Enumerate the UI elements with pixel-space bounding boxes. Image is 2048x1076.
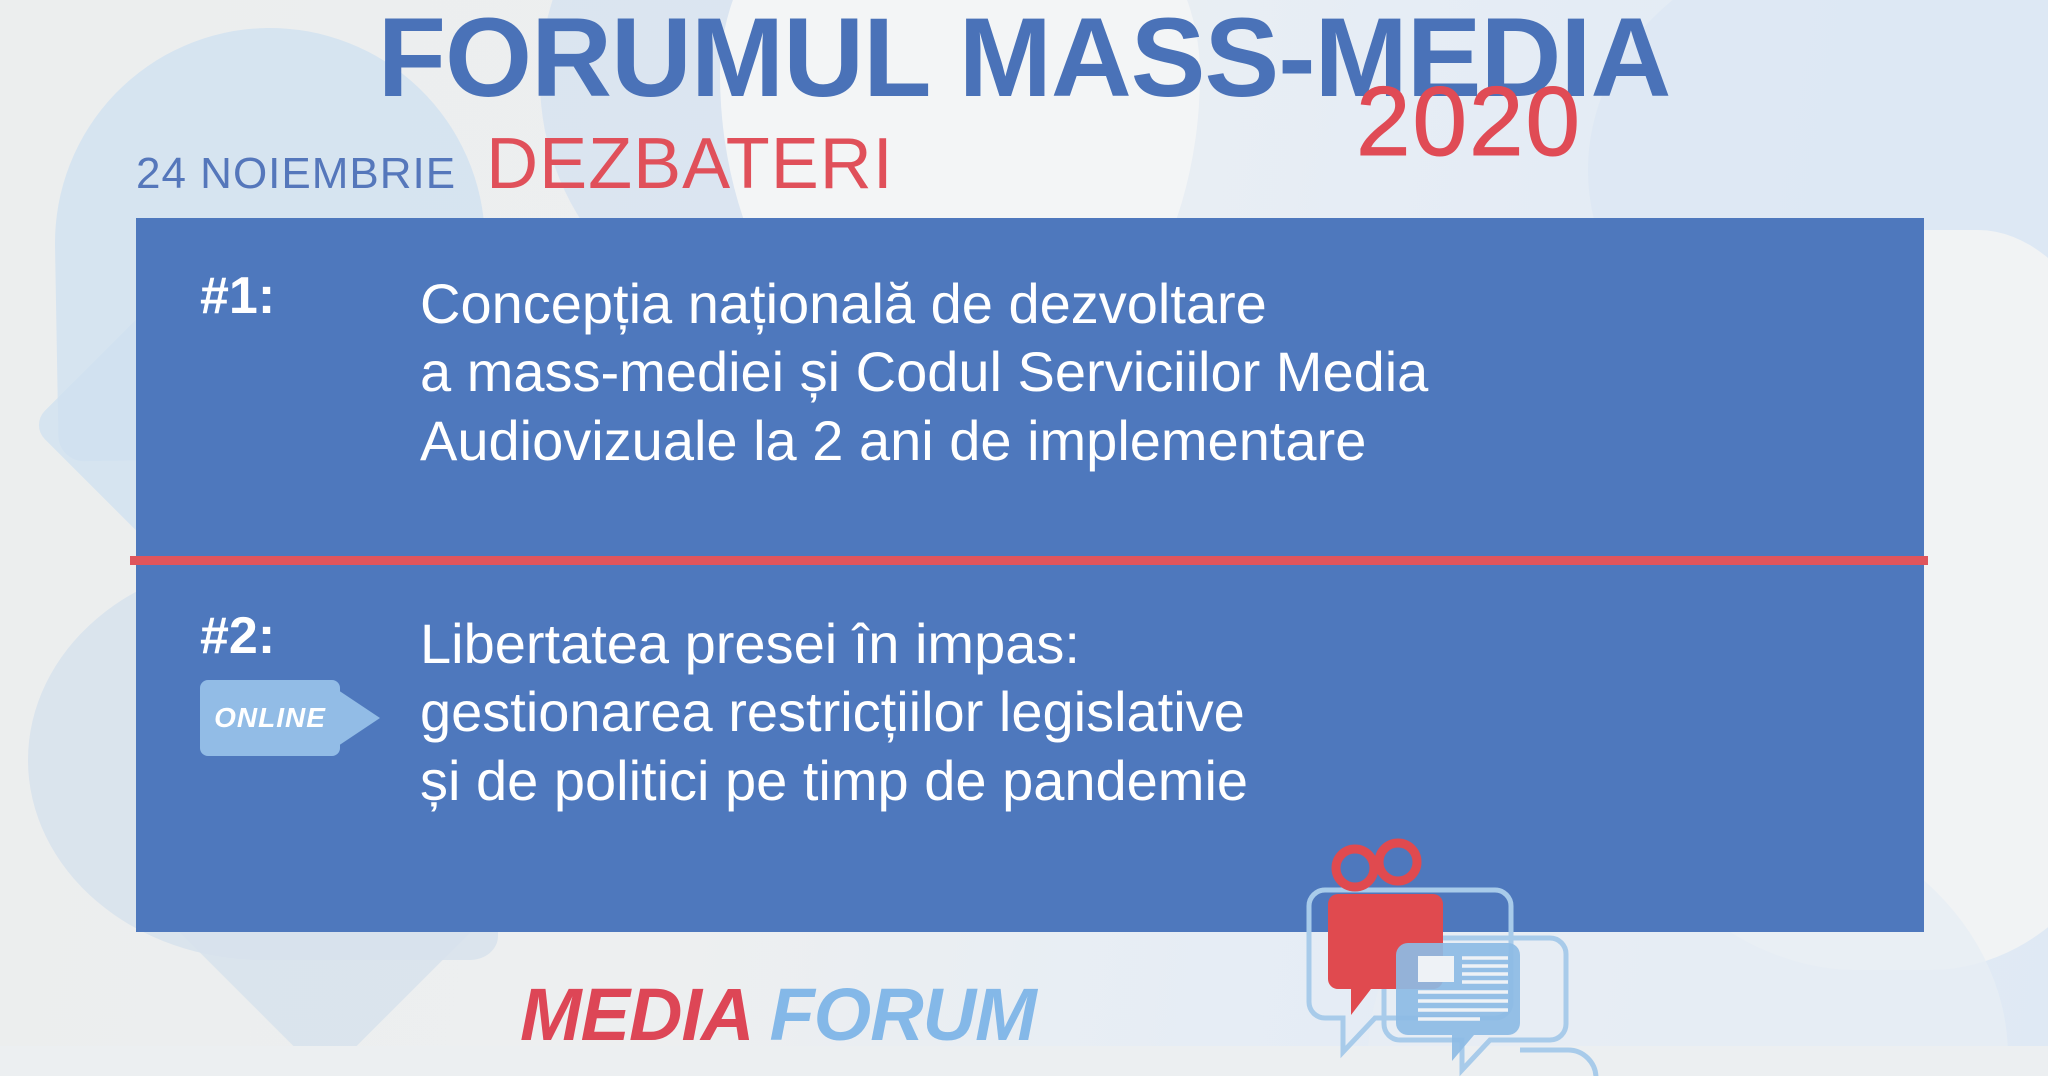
film-reel-right-icon: [1379, 843, 1417, 881]
event-date: 24 NOIEMBRIE: [136, 152, 456, 196]
section-label: DEZBATERI: [486, 128, 894, 200]
logo-word-forum: FORUM: [769, 973, 1035, 1056]
media-illustration: [1280, 838, 1680, 1076]
page-title: FORUMUL MASS-MEDIA: [0, 0, 2048, 123]
debate-2-marker: #2: ONLINE: [200, 610, 420, 756]
poster-canvas: FORUMUL MASS-MEDIA 2020 24 NOIEMBRIE DEZ…: [0, 0, 2048, 1076]
subtitle-row: 24 NOIEMBRIE DEZBATERI: [136, 128, 894, 200]
year-label: 2020: [1356, 72, 1582, 170]
connector-cable-icon: [1520, 1050, 1596, 1076]
online-badge: ONLINE: [200, 680, 380, 756]
debate-1-text: Concepția națională de dezvoltare a mass…: [420, 270, 1428, 475]
online-badge-label: ONLINE: [200, 680, 340, 756]
debate-1-marker: #1:: [200, 270, 420, 322]
panel-divider: [130, 556, 1928, 565]
film-reel-left-icon: [1336, 849, 1374, 887]
debate-2-text: Libertatea presei în impas: gestionarea …: [420, 610, 1248, 815]
media-forum-logo: MEDIAFORUM: [520, 978, 1036, 1052]
debate-2-number: #2:: [200, 610, 420, 662]
debate-item-1: #1: Concepția națională de dezvoltare a …: [200, 270, 1428, 475]
debate-item-2: #2: ONLINE Libertatea presei în impas: g…: [200, 610, 1248, 815]
newspaper-headline-block-icon: [1418, 956, 1454, 982]
logo-word-media: MEDIA: [520, 973, 753, 1056]
debate-1-number: #1:: [200, 270, 420, 322]
